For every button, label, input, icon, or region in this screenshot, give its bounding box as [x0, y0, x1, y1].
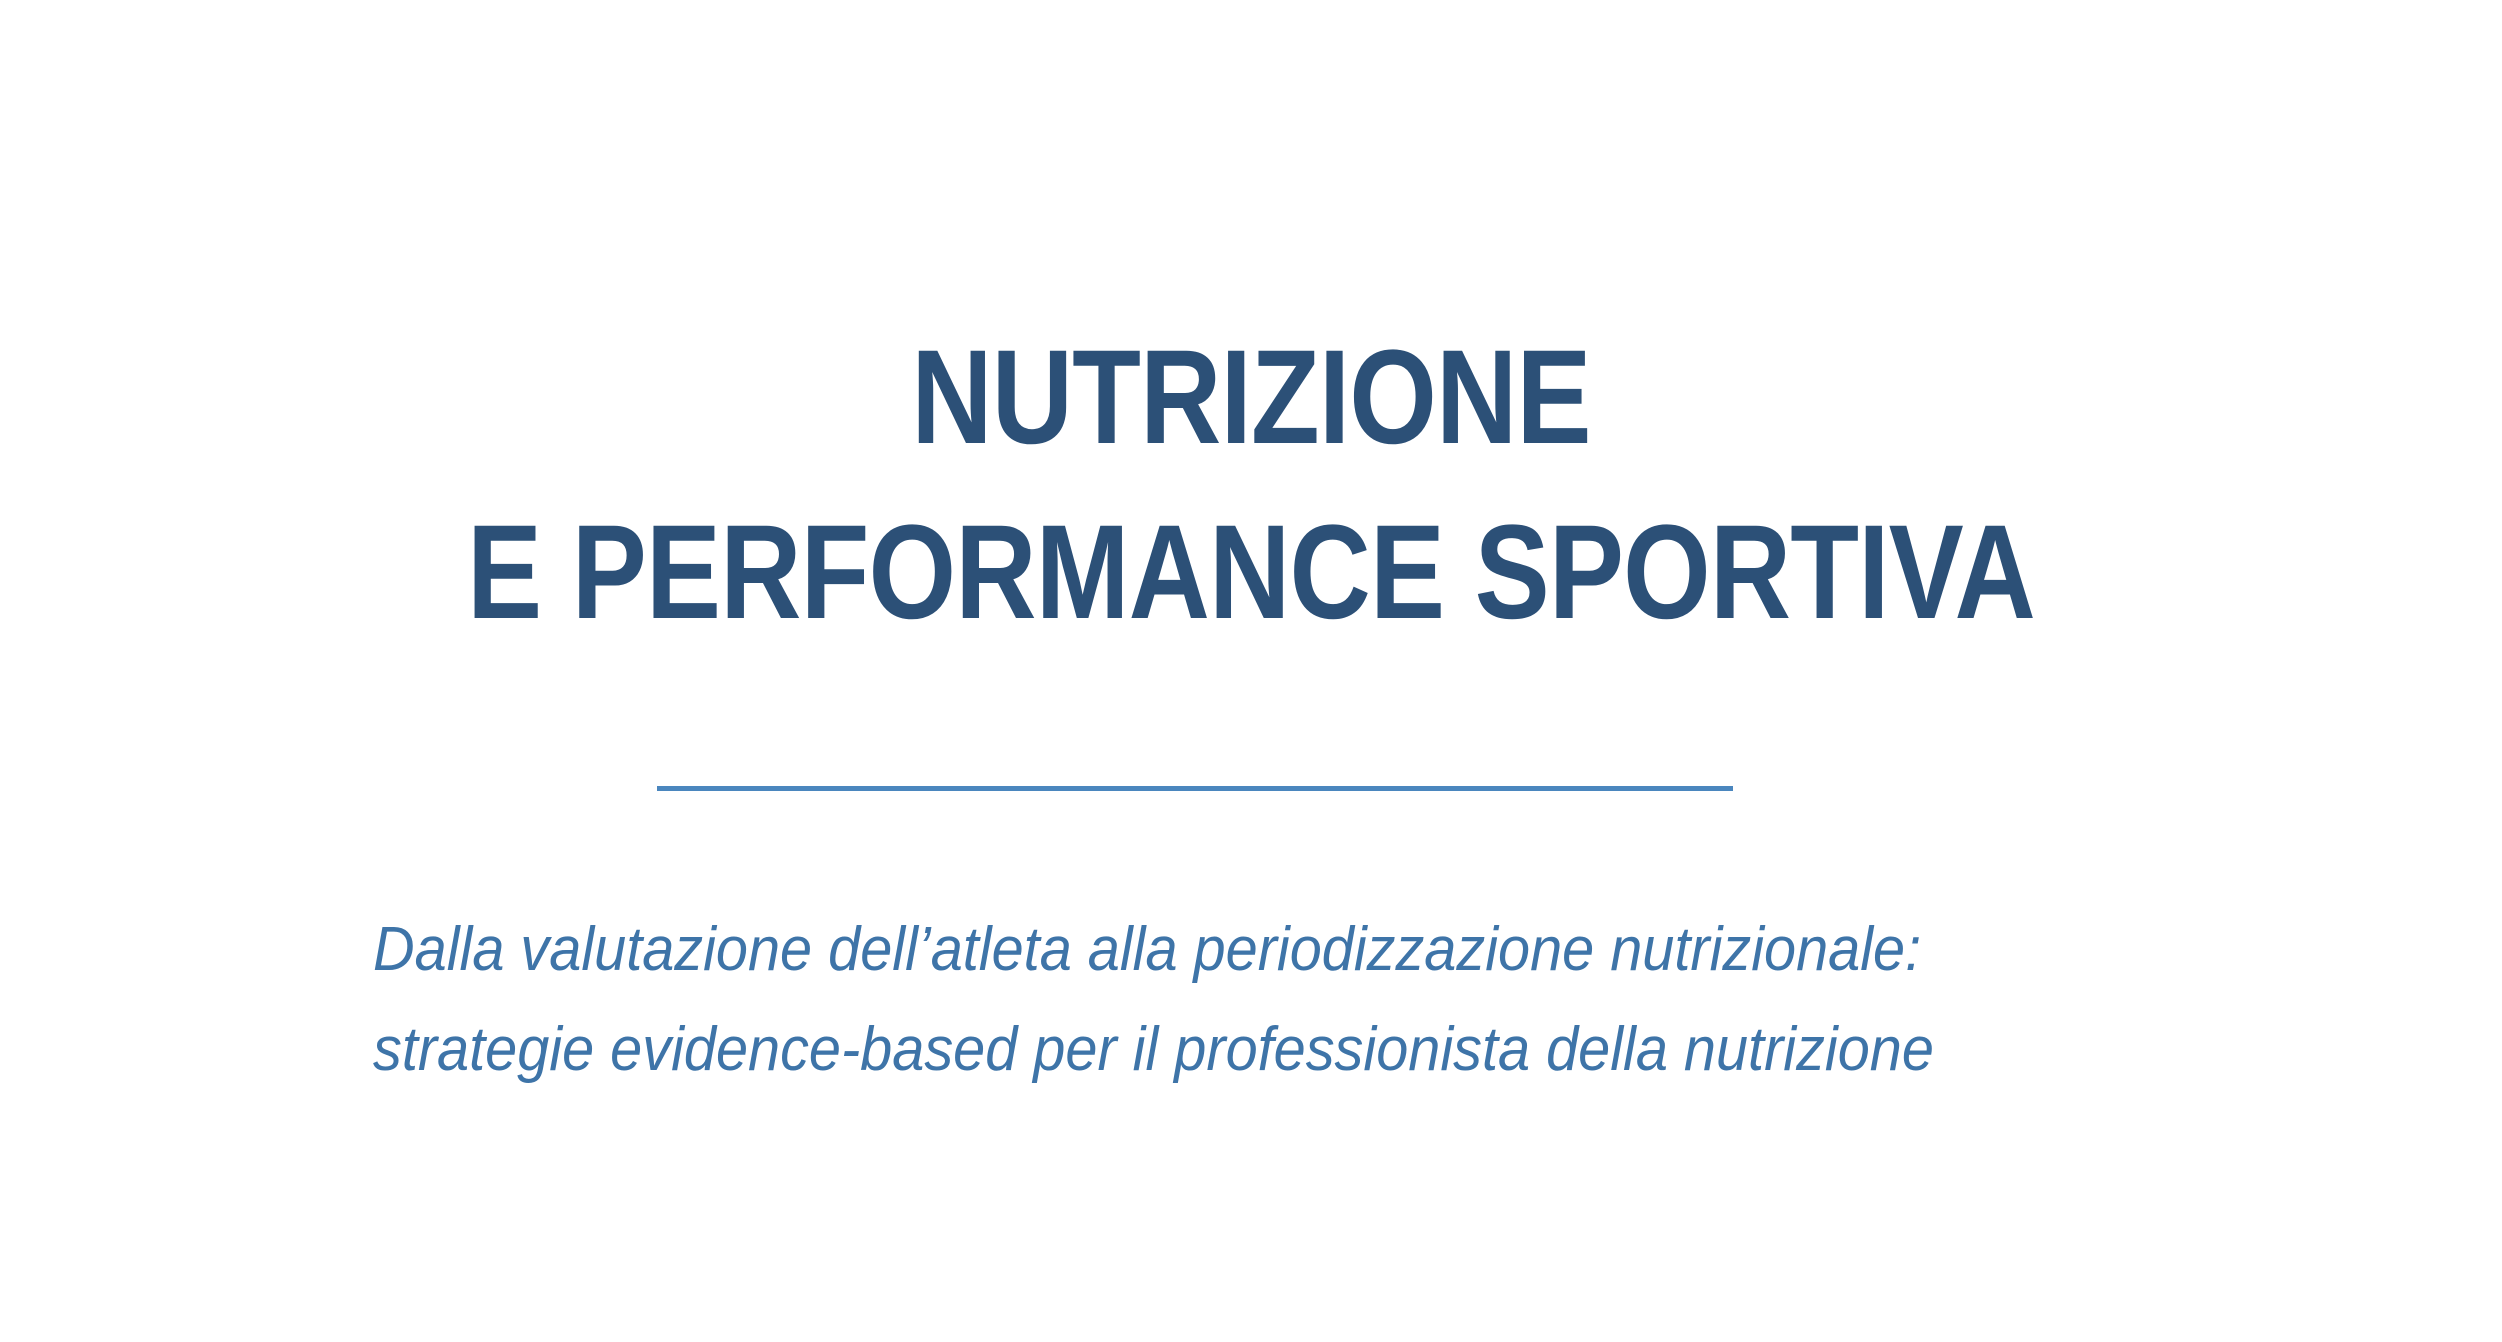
slide-subtitle: Dalla valutazione dell’atleta alla perio…: [373, 900, 2133, 1100]
divider-rule: [657, 786, 1733, 791]
subtitle-line-2: strategie evidence-based per il professi…: [373, 1000, 2010, 1100]
slide-title: NUTRIZIONE E PERFORMANCE SPORTIVA: [0, 310, 2502, 660]
title-line-2: E PERFORMANCE SPORTIVA: [200, 485, 2302, 660]
title-line-1: NUTRIZIONE: [200, 310, 2302, 485]
subtitle-line-1: Dalla valutazione dell’atleta alla perio…: [373, 900, 2010, 1000]
presentation-title-slide: NUTRIZIONE E PERFORMANCE SPORTIVA Dalla …: [0, 0, 2502, 1342]
title-divider: [657, 786, 1733, 791]
